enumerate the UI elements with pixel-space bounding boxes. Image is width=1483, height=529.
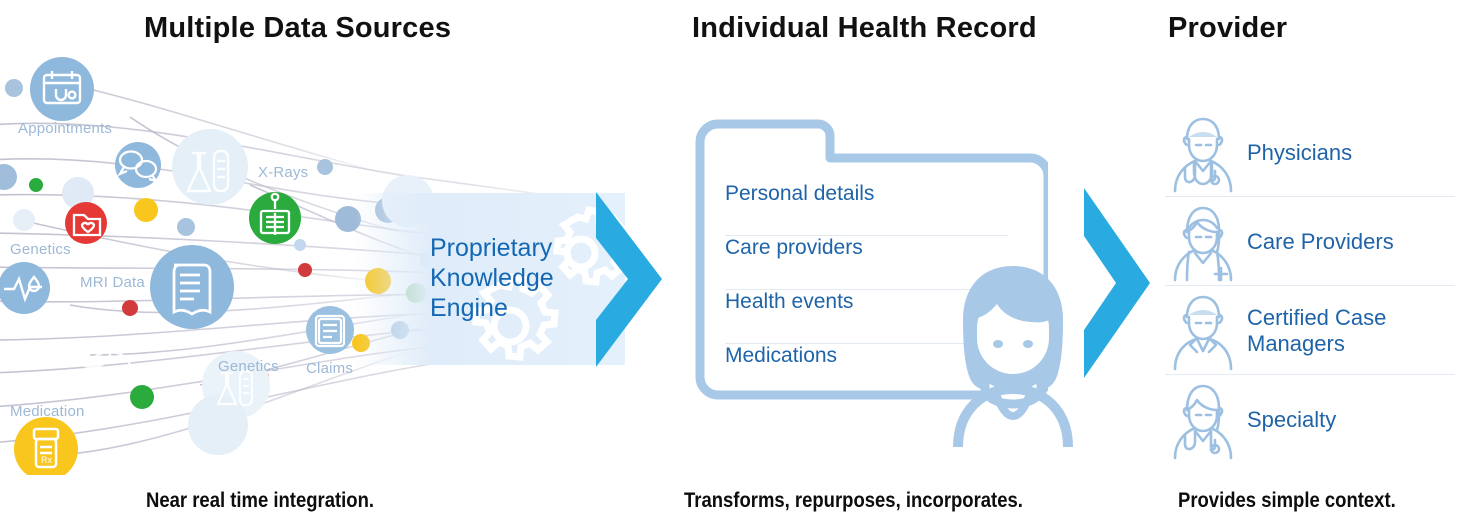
record-item-personal-details[interactable]: Personal details: [725, 182, 1010, 236]
caption-transforms: Transforms, repurposes, incorporates.: [684, 489, 1023, 513]
source-label-medication: Medication: [10, 403, 85, 420]
provider-item-certified-case-managers[interactable]: Certified Case Managers: [1165, 286, 1465, 375]
svg-text:Rx: Rx: [41, 455, 52, 465]
source-label-genetics-lower: Genetics: [218, 358, 279, 375]
record-item-label: Care providers: [725, 236, 863, 260]
provider-item-label: Care Providers: [1247, 229, 1394, 255]
nurse-avatar-icon: [1165, 202, 1241, 282]
chat-bubbles-icon: [115, 142, 161, 188]
page-title-multiple-data-sources: Multiple Data Sources: [144, 12, 451, 45]
knowledge-engine-line-1: Proprietary: [430, 233, 554, 263]
caption-provides-context: Provides simple context.: [1178, 489, 1396, 513]
caption-near-real-time: Near real time integration.: [146, 489, 374, 513]
provider-item-label: Certified Case Managers: [1247, 305, 1465, 357]
document-lines-icon: [150, 245, 234, 329]
chat-bubbles-icon: [74, 339, 130, 382]
knowledge-engine-line-3: Engine: [430, 293, 554, 323]
pill-bottle-icon: Rx: [14, 417, 78, 475]
source-label-genetics-upper: Genetics: [10, 241, 71, 258]
physician-avatar-icon: [1165, 113, 1241, 193]
heartbeat-icon: [0, 262, 50, 314]
flow-arrow-chevron-1: [590, 192, 670, 367]
source-label-xrays: X-Rays: [258, 164, 308, 181]
flow-arrow-chevron-2: [1078, 188, 1158, 378]
source-label-mri-data: MRI Data: [80, 274, 145, 291]
page-title-provider: Provider: [1168, 12, 1287, 45]
xray-scan-icon: [249, 192, 301, 244]
page-title-individual-health-record: Individual Health Record: [692, 12, 1037, 45]
provider-item-label: Physicians: [1247, 140, 1352, 166]
infographic-canvas: Multiple Data Sources Individual Health …: [0, 0, 1483, 529]
provider-item-care-providers[interactable]: Care Providers: [1165, 197, 1465, 286]
specialty-avatar-icon: [1165, 380, 1241, 460]
record-item-label: Medications: [725, 344, 837, 368]
folder-heart-icon: [65, 202, 107, 244]
source-label-claims: Claims: [306, 360, 353, 377]
provider-item-physicians[interactable]: Physicians: [1165, 108, 1465, 197]
record-item-label: Health events: [725, 290, 853, 314]
provider-item-label: Specialty: [1247, 407, 1336, 433]
calendar-stethoscope-icon: [30, 57, 94, 121]
record-item-label: Personal details: [725, 182, 874, 206]
provider-item-specialty[interactable]: Specialty: [1165, 375, 1465, 464]
knowledge-engine-label: Proprietary Knowledge Engine: [430, 233, 554, 323]
case-manager-avatar-icon: [1165, 291, 1241, 371]
claims-form-icon: [306, 306, 354, 354]
source-label-appointments: Appointments: [18, 120, 112, 137]
knowledge-engine-line-2: Knowledge: [430, 263, 554, 293]
provider-role-list: Physicians: [1165, 108, 1465, 464]
